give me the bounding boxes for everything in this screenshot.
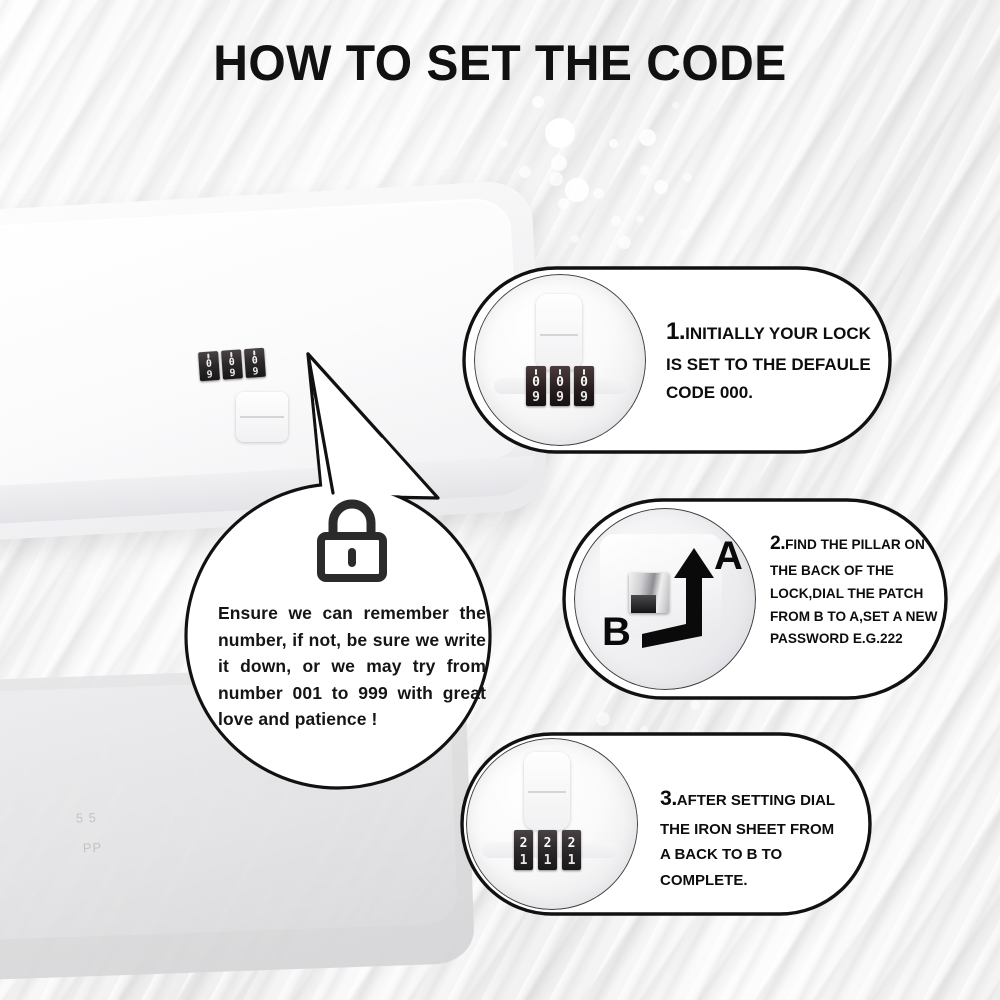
lock-dials-222-photo: 2 1 2 1 2 1 xyxy=(466,738,638,910)
bokeh-dot xyxy=(596,712,610,726)
bubble-text: Ensure we can remember the number, if no… xyxy=(218,600,486,733)
step-panel-2: B A 2.FIND THE PILLAR ON THE BACK OF THE… xyxy=(562,498,948,700)
dial: 0 9 xyxy=(526,366,546,406)
bokeh-dot xyxy=(640,165,650,175)
latch-seam xyxy=(528,791,567,793)
dial: 2 1 xyxy=(514,830,533,870)
bokeh-dot xyxy=(690,700,700,710)
bokeh-dot xyxy=(593,188,604,199)
lock-dials-000-photo: 0 9 0 9 0 9 xyxy=(474,274,646,446)
dial: 2 1 xyxy=(562,830,581,870)
dial-digit-below: 9 xyxy=(556,391,564,404)
bokeh-dot xyxy=(609,139,618,148)
bokeh-dot xyxy=(654,180,668,194)
dial-digit: 2 xyxy=(568,837,576,850)
dial-digit: 0 xyxy=(556,376,564,389)
step-panel-1: 0 9 0 9 0 9 1.INITIALLY YOUR LOCK IS SET… xyxy=(462,266,892,454)
bokeh-dot xyxy=(571,235,579,243)
photo-slider-latch xyxy=(524,752,570,830)
b-to-a-arrow-diagram: B A xyxy=(574,508,756,690)
bokeh-dot xyxy=(672,102,679,109)
photo-slider-latch xyxy=(536,294,582,370)
emboss-mark-top: 5 5 xyxy=(76,810,98,826)
step-2-number: 2. xyxy=(770,533,785,554)
bokeh-dot xyxy=(558,198,569,209)
step-3-body: AFTER SETTING DIAL THE IRON SHEET FROM A… xyxy=(660,792,835,889)
dial-digit: 2 xyxy=(520,837,528,850)
step-1-text: 1.INITIALLY YOUR LOCK IS SET TO THE DEFA… xyxy=(666,312,878,406)
dial-digit-below: 1 xyxy=(568,854,576,867)
step-2-text: 2.FIND THE PILLAR ON THE BACK OF THE LOC… xyxy=(770,528,940,651)
dial-digit-below: 1 xyxy=(544,854,552,867)
padlock-icon xyxy=(313,496,391,584)
dial: 2 1 xyxy=(538,830,557,870)
step-3-text: 3.AFTER SETTING DIAL THE IRON SHEET FROM… xyxy=(660,780,846,894)
dial-digit-below: 1 xyxy=(520,854,528,867)
bokeh-dot xyxy=(519,166,531,178)
step-1-body: INITIALLY YOUR LOCK IS SET TO THE DEFAUL… xyxy=(666,324,871,402)
dial-digit: 2 xyxy=(544,837,552,850)
bubble-content: Ensure we can remember the number, if no… xyxy=(218,496,486,733)
label-b: B xyxy=(602,612,631,652)
bokeh-dot xyxy=(532,96,544,108)
dial-digit-below: 9 xyxy=(580,391,588,404)
bokeh-dot xyxy=(636,215,644,223)
dial-digit-below: 9 xyxy=(532,391,540,404)
label-a: A xyxy=(714,536,743,576)
step-panel-3: 2 1 2 1 2 1 3.AFTER SETTING DIAL THE IRO… xyxy=(460,732,872,916)
bokeh-dot xyxy=(549,172,563,186)
photo-dial-strip: 2 1 2 1 2 1 xyxy=(514,830,581,870)
photo-dial-strip: 0 9 0 9 0 9 xyxy=(526,366,594,406)
emboss-mark-bottom: PP xyxy=(83,840,103,856)
bokeh-dot xyxy=(639,129,656,146)
infographic-canvas: HOW TO SET THE CODE 0 9 0 9 0 9 5 5 PP xyxy=(0,0,1000,1000)
dial-digit: 0 xyxy=(532,376,540,389)
bokeh-dot xyxy=(551,155,567,171)
bokeh-dot xyxy=(683,173,692,182)
dial: 0 9 xyxy=(574,366,594,406)
page-title: HOW TO SET THE CODE xyxy=(20,34,980,92)
bokeh-dot xyxy=(680,229,687,236)
step-3-number: 3. xyxy=(660,786,677,810)
bokeh-dot xyxy=(565,178,589,202)
latch-seam xyxy=(540,334,579,336)
step-2-body: FIND THE PILLAR ON THE BACK OF THE LOCK,… xyxy=(770,537,937,646)
bokeh-dot xyxy=(545,118,575,148)
bokeh-dot xyxy=(500,140,508,148)
pillar-b-to-a-photo: B A xyxy=(574,508,756,690)
dial: 0 9 xyxy=(550,366,570,406)
step-1-number: 1. xyxy=(666,318,685,345)
bokeh-dot xyxy=(611,216,621,226)
bokeh-dot xyxy=(618,236,631,249)
dial-digit: 0 xyxy=(580,376,588,389)
